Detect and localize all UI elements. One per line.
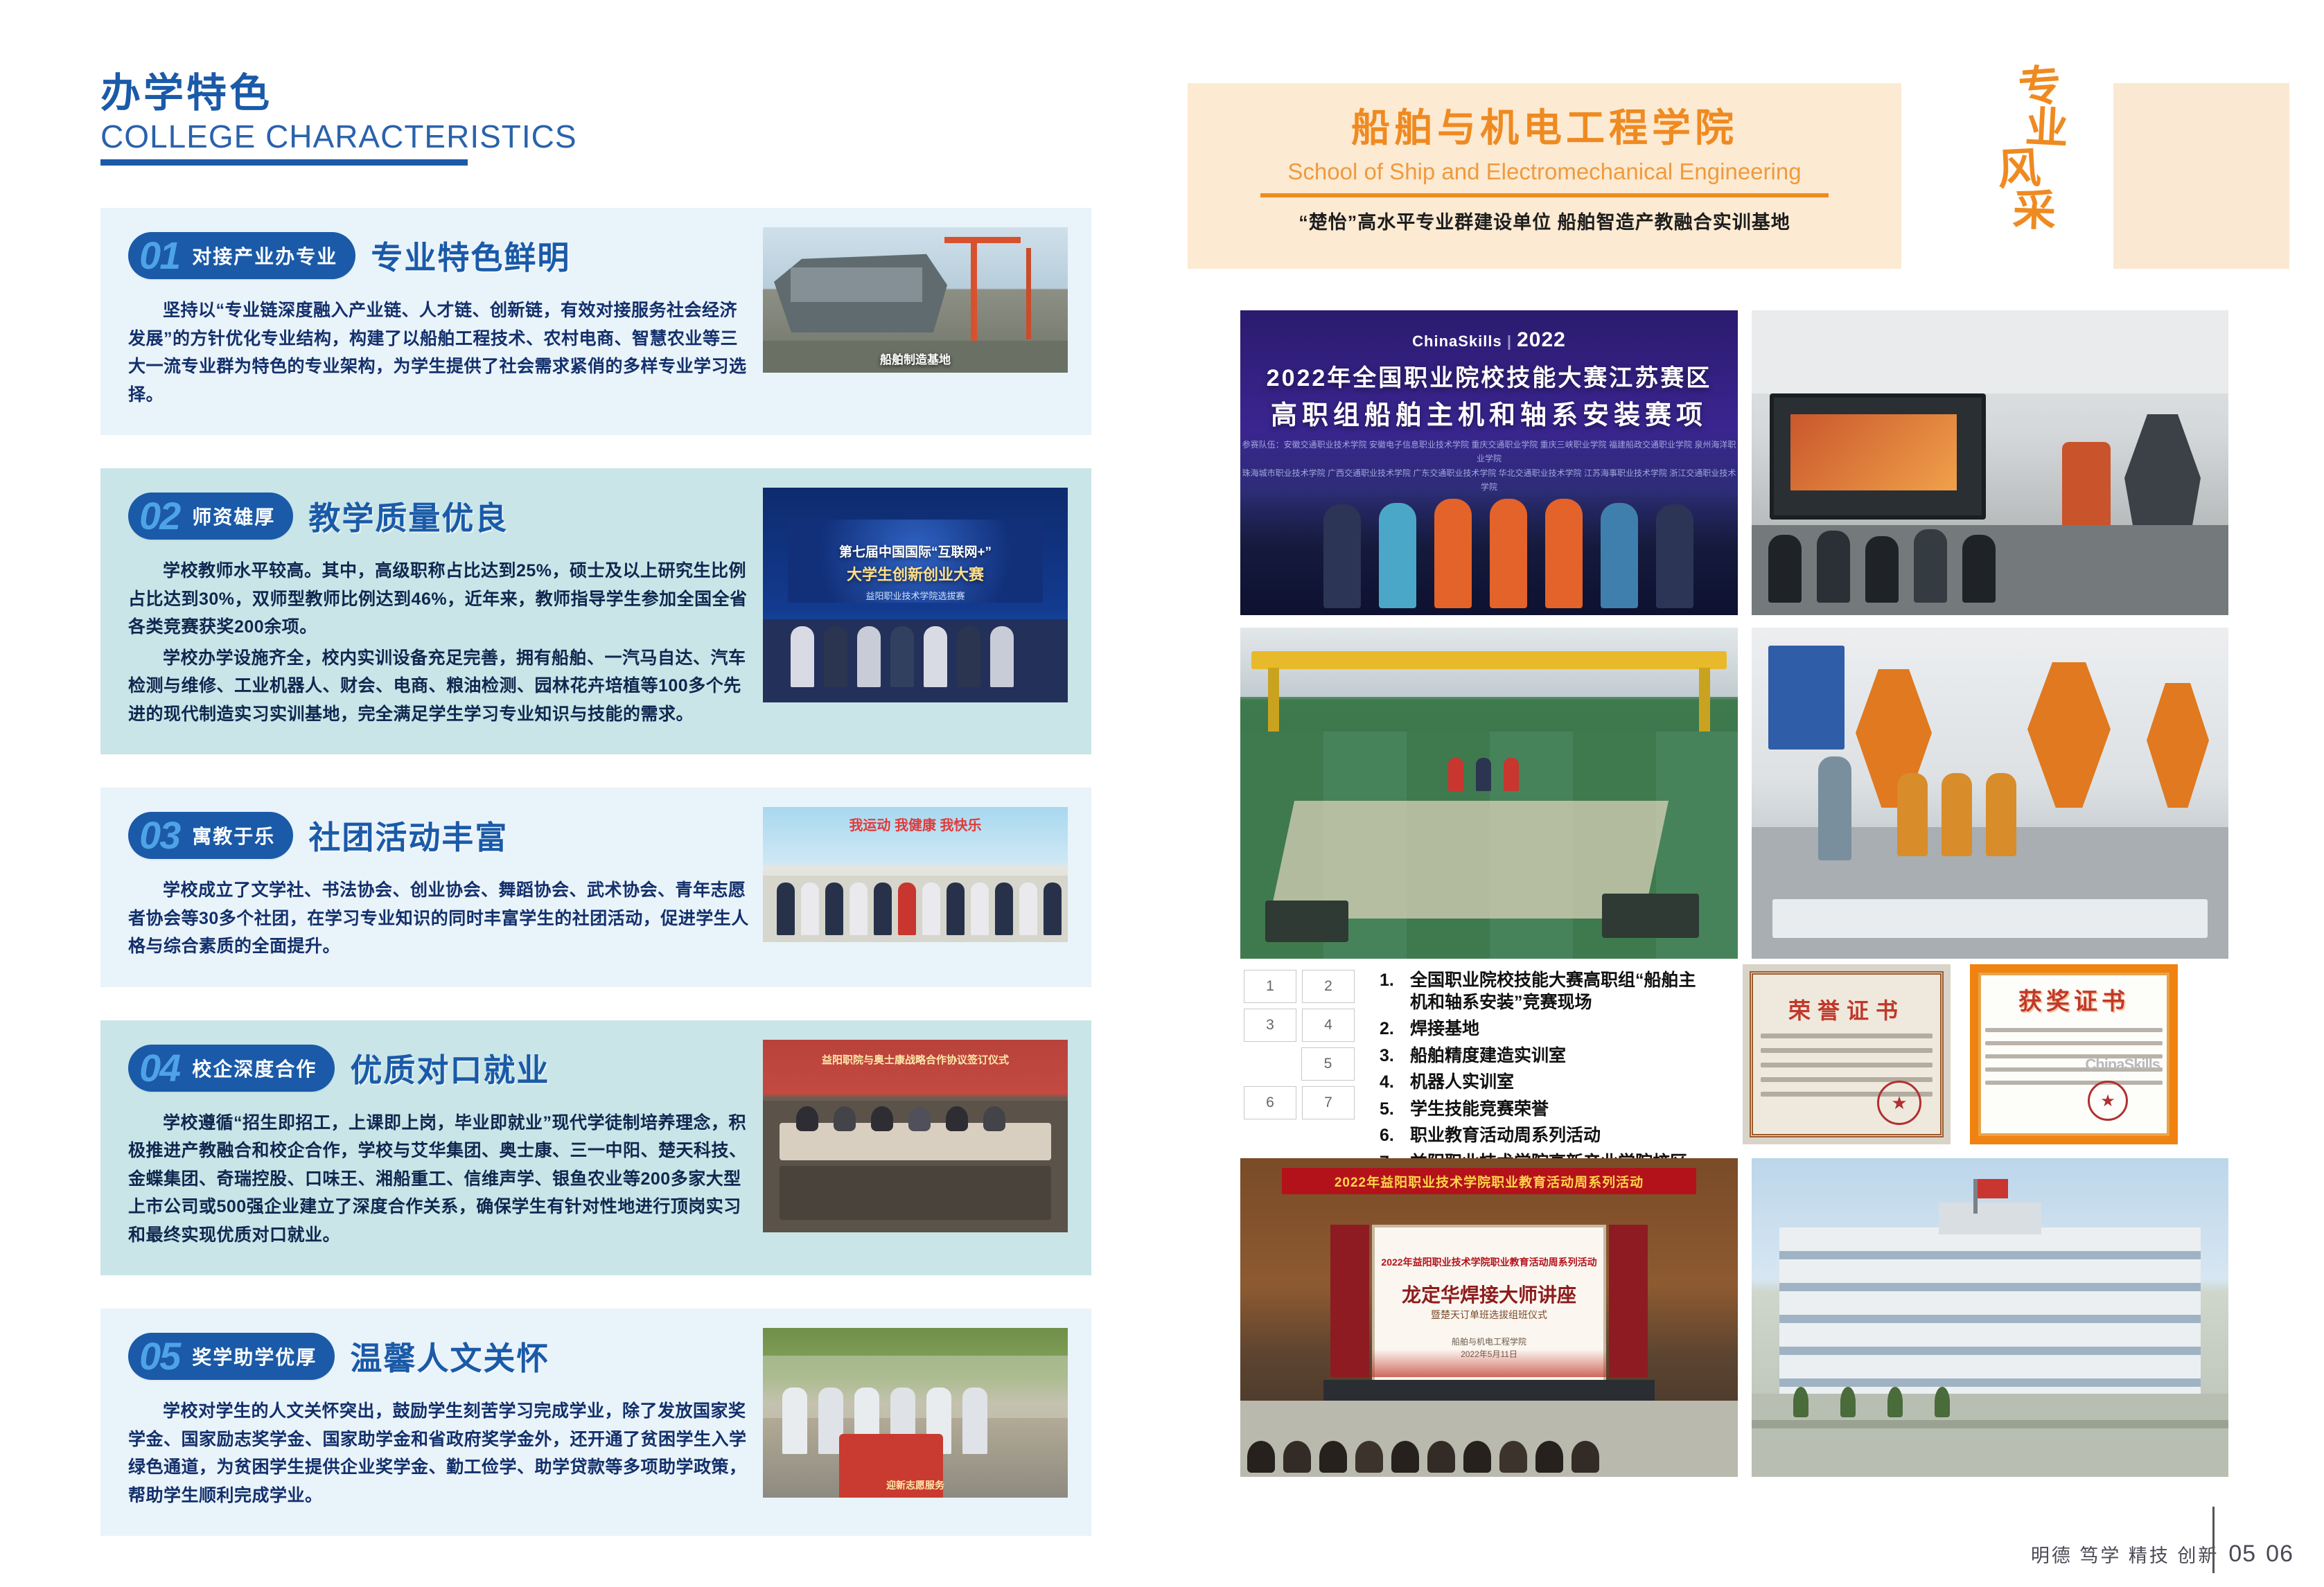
chinaskills-logo: ChinaSkills	[2085, 1056, 2160, 1074]
right-photo-7-campus	[1752, 1158, 2228, 1477]
card-tag: 校企深度合作	[192, 1054, 317, 1082]
certificate-title: 荣誉证书	[1743, 993, 1951, 1025]
card-photo-ceremony: 第七届中国国际“互联网+” 大学生创新创业大赛 益阳职业技术学院选拔赛	[763, 488, 1068, 702]
legend-map-row: 5	[1244, 1047, 1355, 1081]
card-photo-welcome-volunteers: 迎新志愿服务	[763, 1328, 1068, 1498]
legend-item: 焊接基地	[1380, 1018, 1705, 1040]
card-title: 社团活动丰富	[308, 813, 508, 858]
card-number: 02	[139, 497, 179, 535]
legend-map-cell: 5	[1301, 1047, 1355, 1081]
card-number-pill: 01 对接产业办专业	[128, 232, 355, 279]
page-footer: 明德 笃学 精技 创新 05 06	[2031, 1541, 2294, 1568]
feature-card-04[interactable]: 04 校企深度合作 优质对口就业 学校遵循“招生即招工，上课即上岗，毕业即就业”…	[100, 1020, 1091, 1276]
school-subtitle: “楚怡”高水平专业群建设单位 船舶智造产教融合实训基地	[1188, 207, 1901, 234]
card-photo-signing-ceremony: 益阳职院与奥士康战略合作协议签订仪式	[763, 1040, 1068, 1232]
legend-layout-map: 1 2 3 4 5 6 7	[1244, 970, 1355, 1178]
card-paragraph: 学校成立了文学社、书法协会、创业协会、舞蹈协会、武术协会、青年志愿者协会等30多…	[128, 876, 752, 961]
legend-item: 机器人实训室	[1380, 1072, 1705, 1094]
right-photo-1-competition: ChinaSkills | 2022 2022年全国职业院校技能大赛江苏赛区 高…	[1240, 310, 1738, 615]
legend-map-cell: 7	[1302, 1086, 1355, 1119]
legend-map-cell-empty	[1244, 1047, 1296, 1079]
legend-item-list: 全国职业院校技能大赛高职组“船舶主机和轴系安装”竞赛现场 焊接基地 船舶精度建造…	[1374, 970, 1705, 1178]
page-title-cn: 办学特色	[100, 73, 475, 115]
photo-legend: 1 2 3 4 5 6 7 全国职业院校技能大赛高职组“船舶主机和轴系安装”竞赛…	[1244, 970, 1705, 1178]
page-title-en: COLLEGE CHARACTERISTICS	[100, 119, 475, 154]
footer-motto: 明德 笃学 精技 创新	[2031, 1541, 2219, 1568]
card-tag: 对接产业办专业	[192, 242, 337, 269]
footer-page-left: 05	[2228, 1541, 2256, 1568]
card-title: 优质对口就业	[350, 1045, 549, 1091]
calligraphy-zhuanyefengcai: 专 业 风 采	[1961, 66, 2099, 281]
right-photo-6-lecture: 2022年益阳职业技术学院职业教育活动周系列活动 2022年益阳职业技术学院职业…	[1240, 1158, 1738, 1477]
card-title: 专业特色鲜明	[371, 233, 570, 278]
certificate-seal-icon: ★	[1877, 1081, 1921, 1125]
legend-map-cell: 4	[1302, 1009, 1355, 1042]
footer-divider	[2212, 1507, 2215, 1573]
card-number: 05	[139, 1337, 179, 1376]
card-body: 学校成立了文学社、书法协会、创业协会、舞蹈协会、武术协会、青年志愿者协会等30多…	[128, 876, 752, 961]
header-color-swatch	[2113, 83, 2289, 269]
card-tag: 奖学助学优厚	[192, 1342, 317, 1370]
card-paragraph: 学校遵循“招生即招工，上课即上岗，毕业即就业”现代学徒制培养理念，积极推进产教融…	[128, 1109, 752, 1250]
card-number: 01	[139, 236, 179, 275]
title-underline	[100, 159, 468, 166]
card-paragraph: 坚持以“专业链深度融入产业链、人才链、创新链，有效对接服务社会经济发展”的方针优…	[128, 296, 752, 409]
card-body: 坚持以“专业链深度融入产业链、人才链、创新链，有效对接服务社会经济发展”的方针优…	[128, 296, 752, 409]
right-photo-4-robot-lab	[1752, 628, 2228, 959]
school-title-underline	[1260, 193, 1829, 197]
legend-map-cell: 1	[1244, 970, 1296, 1003]
right-photo-2-welding-base	[1752, 310, 2228, 615]
card-photo-club-activity: 我运动 我健康 我快乐	[763, 807, 1068, 942]
card-tag: 师资雄厚	[192, 502, 275, 530]
certificate-honor: 荣誉证书 ★	[1743, 964, 1951, 1144]
legend-map-cell: 2	[1302, 970, 1355, 1003]
card-number-pill: 04 校企深度合作	[128, 1045, 335, 1092]
legend-map-row: 3 4	[1244, 1009, 1355, 1042]
certificate-title: 获奖证书	[1970, 982, 2178, 1016]
card-number: 04	[139, 1049, 179, 1088]
card-tag: 寓教于乐	[192, 822, 275, 849]
left-page: 办学特色 COLLEGE CHARACTERISTICS 01 对接产业办专业 …	[0, 0, 1163, 1587]
certificate-group: 荣誉证书 ★ 获奖证书 ChinaSkills ★	[1743, 964, 2178, 1144]
card-paragraph: 学校教师水平较高。其中，高级职称占比达到25%，硕士及以上研究生比例占比达到30…	[128, 557, 752, 641]
photo-caption: 船舶制造基地	[763, 353, 1068, 367]
legend-map-row: 1 2	[1244, 970, 1355, 1003]
feature-card-05[interactable]: 05 奖学助学优厚 温馨人文关怀 学校对学生的人文关怀突出，鼓励学生刻苦学习完成…	[100, 1309, 1091, 1536]
legend-map-cell: 6	[1244, 1086, 1296, 1119]
legend-item: 职业教育活动周系列活动	[1380, 1125, 1705, 1147]
card-body: 学校教师水平较高。其中，高级职称占比达到25%，硕士及以上研究生比例占比达到30…	[128, 557, 752, 728]
footer-page-right: 06	[2266, 1541, 2294, 1568]
feature-card-list: 01 对接产业办专业 专业特色鲜明 坚持以“专业链深度融入产业链、人才链、创新链…	[100, 208, 1091, 1569]
calligraphy-char-4: 采	[1964, 187, 2104, 233]
left-page-header: 办学特色 COLLEGE CHARACTERISTICS	[100, 73, 475, 166]
card-body: 学校遵循“招生即招工，上课即上岗，毕业即就业”现代学徒制培养理念，积极推进产教融…	[128, 1109, 752, 1250]
feature-card-01[interactable]: 01 对接产业办专业 专业特色鲜明 坚持以“专业链深度融入产业链、人才链、创新链…	[100, 208, 1091, 435]
card-paragraph: 学校办学设施齐全，校内实训设备充足完善，拥有船舶、一汽马自达、汽车检测与维修、工…	[128, 644, 752, 729]
card-number-pill: 03 寓教于乐	[128, 812, 293, 859]
legend-map-cell: 3	[1244, 1009, 1296, 1042]
card-number-pill: 02 师资雄厚	[128, 493, 293, 540]
right-page-header: 船舶与机电工程学院 School of Ship and Electromech…	[1188, 83, 1901, 269]
school-title-en: School of Ship and Electromechanical Eng…	[1188, 159, 1901, 185]
certificate-seal-icon: ★	[2088, 1081, 2128, 1121]
card-number-pill: 05 奖学助学优厚	[128, 1333, 335, 1380]
card-number: 03	[139, 816, 179, 855]
school-title-cn: 船舶与机电工程学院	[1188, 107, 1901, 150]
card-body: 学校对学生的人文关怀突出，鼓励学生刻苦学习完成学业，除了发放国家奖学金、国家励志…	[128, 1397, 752, 1509]
legend-item: 船舶精度建造实训室	[1380, 1045, 1705, 1067]
certificate-award: 获奖证书 ChinaSkills ★	[1970, 964, 2178, 1144]
card-photo-shipyard: 船舶制造基地	[763, 227, 1068, 373]
legend-item: 学生技能竞赛荣誉	[1380, 1099, 1705, 1121]
legend-item: 全国职业院校技能大赛高职组“船舶主机和轴系安装”竞赛现场	[1380, 970, 1705, 1013]
feature-card-03[interactable]: 03 寓教于乐 社团活动丰富 学校成立了文学社、书法协会、创业协会、舞蹈协会、武…	[100, 788, 1091, 987]
feature-card-02[interactable]: 02 师资雄厚 教学质量优良 学校教师水平较高。其中，高级职称占比达到25%，硕…	[100, 468, 1091, 754]
card-paragraph: 学校对学生的人文关怀突出，鼓励学生刻苦学习完成学业，除了发放国家奖学金、国家励志…	[128, 1397, 752, 1509]
legend-map-row: 6 7	[1244, 1086, 1355, 1119]
card-title: 温馨人文关怀	[350, 1333, 549, 1379]
right-photo-3-precision-lab	[1240, 628, 1738, 959]
card-title: 教学质量优良	[308, 493, 508, 539]
